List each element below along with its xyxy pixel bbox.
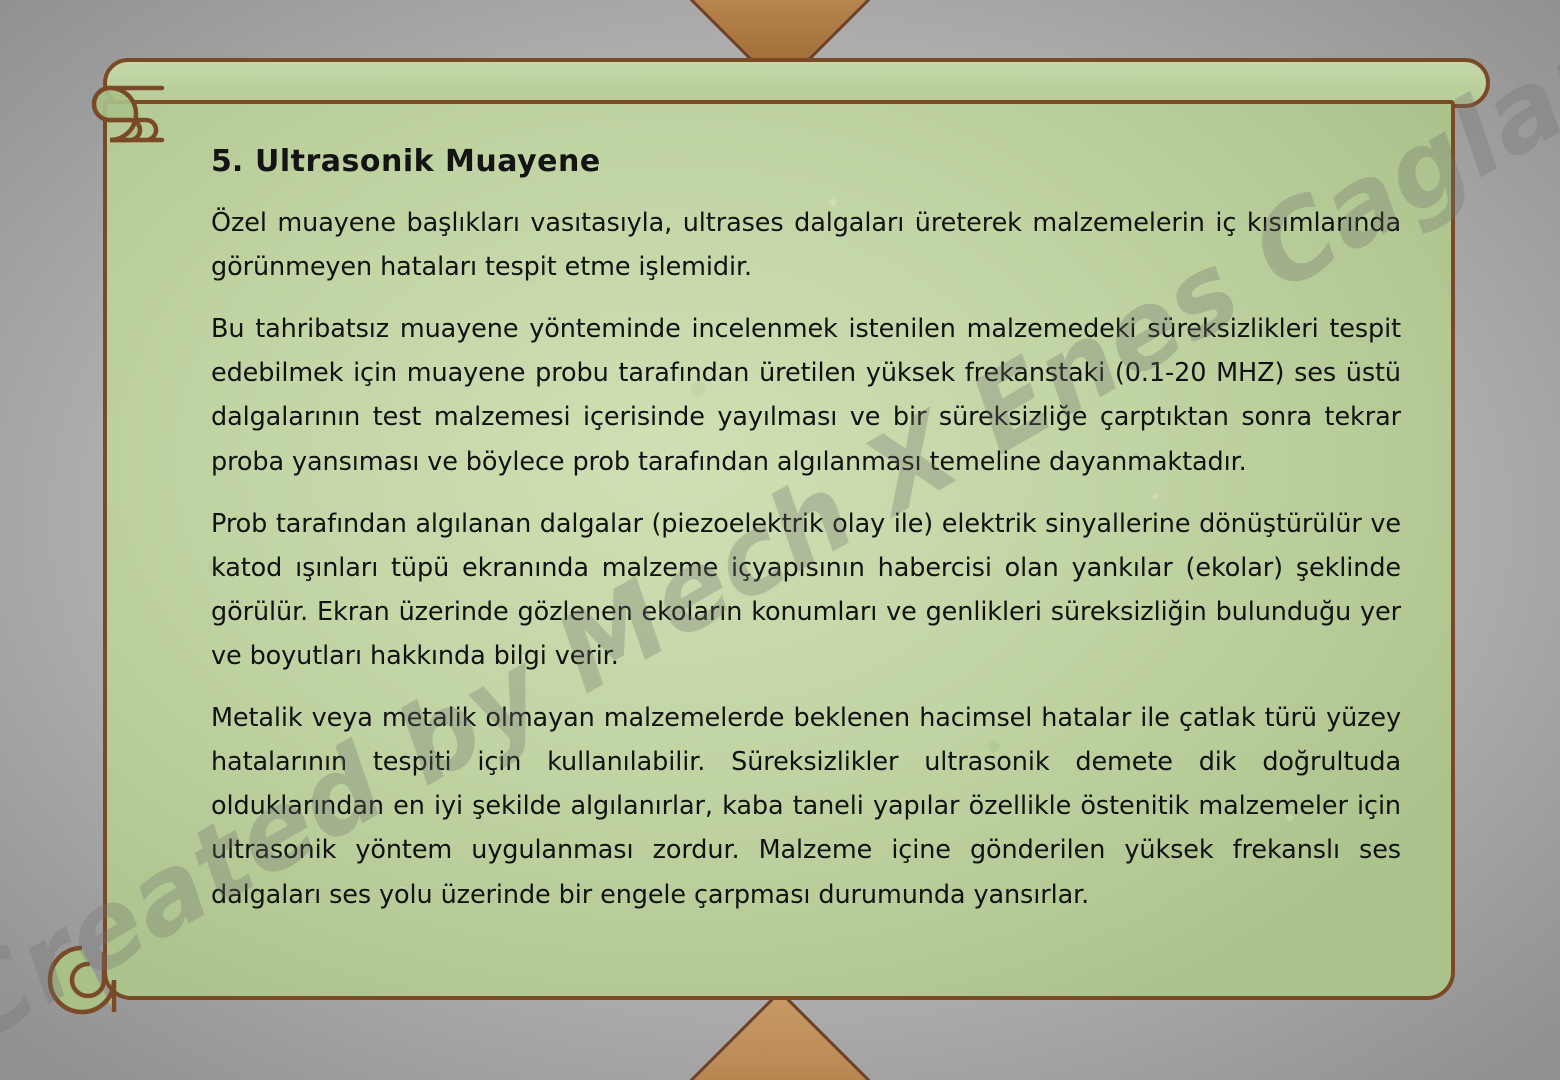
paragraph-2: Bu tahribatsız muayene yönteminde incele… (159, 307, 1407, 483)
slide-canvas: 5. Ultrasonik Muayene Özel muayene başlı… (0, 0, 1560, 1080)
paragraph-1: Özel muayene başlıkları vasıtasıyla, ult… (159, 201, 1407, 289)
page-title: 5. Ultrasonik Muayene (211, 144, 1407, 179)
heading-number: 5. (211, 144, 255, 179)
paragraph-3: Prob tarafından algılanan dalgalar (piez… (159, 502, 1407, 678)
slide-content: 5. Ultrasonik Muayene Özel muayene başlı… (107, 104, 1455, 935)
parchment-panel: 5. Ultrasonik Muayene Özel muayene başlı… (103, 100, 1455, 1000)
diamond-bottom-decoration (689, 989, 870, 1080)
heading-title: Ultrasonik Muayene (255, 144, 601, 179)
scroll-curl-bottom-left-icon (42, 940, 120, 1018)
paragraph-4: Metalik veya metalik olmayan malzemelerd… (159, 696, 1407, 917)
